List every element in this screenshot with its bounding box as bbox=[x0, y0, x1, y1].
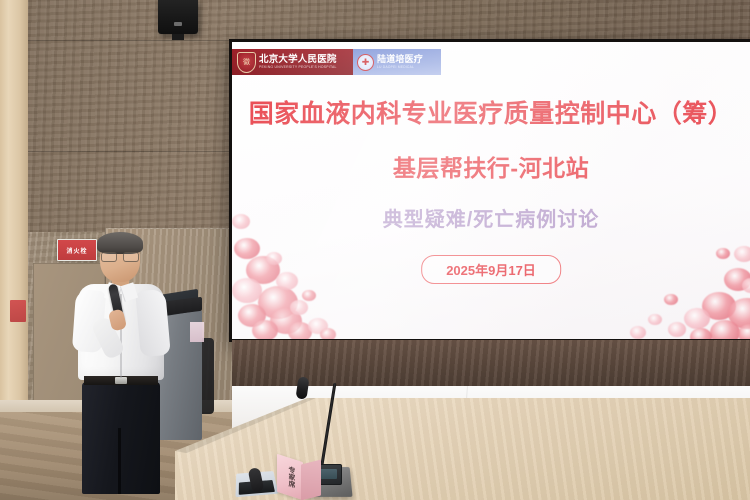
ludaopei-logo-en: LU DAOPEI MEDICAL bbox=[377, 66, 423, 69]
blood-cell bbox=[648, 314, 662, 325]
blood-cell bbox=[742, 278, 750, 293]
blood-cell bbox=[630, 326, 646, 339]
slide-third-line: 典型疑难/死亡病例讨论 bbox=[232, 203, 750, 232]
screen-glare bbox=[232, 42, 750, 339]
hospital-shield-icon: 徽 bbox=[237, 52, 256, 73]
blood-cell bbox=[258, 286, 298, 319]
slide-logo-bar: 徽 北京大学人民医院 PEKING UNIVERSITY PEOPLE'S HO… bbox=[232, 49, 432, 75]
blood-cell bbox=[664, 294, 678, 305]
blood-cell bbox=[266, 252, 282, 265]
medical-cross-icon: ✚ bbox=[357, 54, 374, 71]
blood-cell bbox=[302, 290, 316, 301]
wall-sign-small bbox=[10, 300, 26, 322]
blood-cell bbox=[276, 272, 298, 290]
ludaopei-logo-cn: 陆道培医疗 bbox=[377, 55, 423, 64]
hospital-logo: 徽 北京大学人民医院 PEKING UNIVERSITY PEOPLE'S HO… bbox=[232, 49, 353, 75]
projection-screen: 徽 北京大学人民医院 PEKING UNIVERSITY PEOPLE'S HO… bbox=[232, 42, 750, 339]
blood-cell bbox=[252, 320, 278, 339]
blood-cell bbox=[308, 318, 328, 334]
slide-date-badge: 2025年9月17日 bbox=[421, 255, 561, 284]
wall-wood-band bbox=[232, 340, 750, 388]
placard-text: 专家席 bbox=[285, 465, 295, 493]
name-placard: 专家席 bbox=[277, 458, 321, 498]
blood-cell bbox=[710, 320, 740, 339]
slide-title: 国家血液内科专业医疗质量控制中心（筹） bbox=[232, 94, 750, 130]
blood-cell bbox=[234, 238, 260, 259]
blood-cell bbox=[668, 322, 686, 337]
blood-cell bbox=[716, 248, 730, 259]
blood-cell bbox=[684, 308, 710, 329]
presenter-figure bbox=[60, 232, 180, 462]
wall-speaker-icon bbox=[158, 0, 198, 34]
podium-papers bbox=[190, 322, 204, 342]
glasses-icon bbox=[101, 252, 139, 261]
blood-cell-decoration-right bbox=[232, 42, 750, 339]
blood-cell bbox=[724, 268, 750, 291]
blood-cell bbox=[232, 278, 262, 303]
blood-cell bbox=[270, 308, 302, 334]
blood-cell bbox=[288, 322, 312, 339]
blood-cell bbox=[690, 328, 712, 339]
blood-cell-decoration-left bbox=[232, 42, 750, 339]
wall-pillar bbox=[0, 0, 28, 420]
blood-cell bbox=[238, 304, 266, 327]
presenter-trousers bbox=[82, 382, 160, 494]
blood-cell bbox=[734, 246, 750, 262]
conference-room-scene: 消火栓 徽 北京大学人民医院 bbox=[0, 0, 750, 500]
blood-cell bbox=[738, 324, 750, 339]
slide-subtitle: 基层帮扶行-河北站 bbox=[232, 149, 750, 183]
presenter-leg-seam bbox=[118, 428, 121, 494]
blood-cell bbox=[246, 256, 280, 284]
presenter-hair bbox=[97, 232, 143, 254]
presenter-right-arm bbox=[135, 289, 171, 357]
placard-side bbox=[301, 460, 321, 500]
blood-cell bbox=[290, 300, 308, 315]
hospital-logo-en: PEKING UNIVERSITY PEOPLE'S HOSPITAL bbox=[259, 66, 337, 69]
blood-cell bbox=[320, 328, 336, 339]
blood-cell bbox=[702, 292, 736, 320]
hospital-logo-cn: 北京大学人民医院 bbox=[259, 55, 337, 65]
belt-buckle bbox=[115, 377, 127, 384]
ludaopei-logo: ✚ 陆道培医疗 LU DAOPEI MEDICAL bbox=[353, 49, 441, 75]
blood-cell bbox=[728, 298, 750, 329]
speaker-bracket bbox=[172, 34, 184, 40]
